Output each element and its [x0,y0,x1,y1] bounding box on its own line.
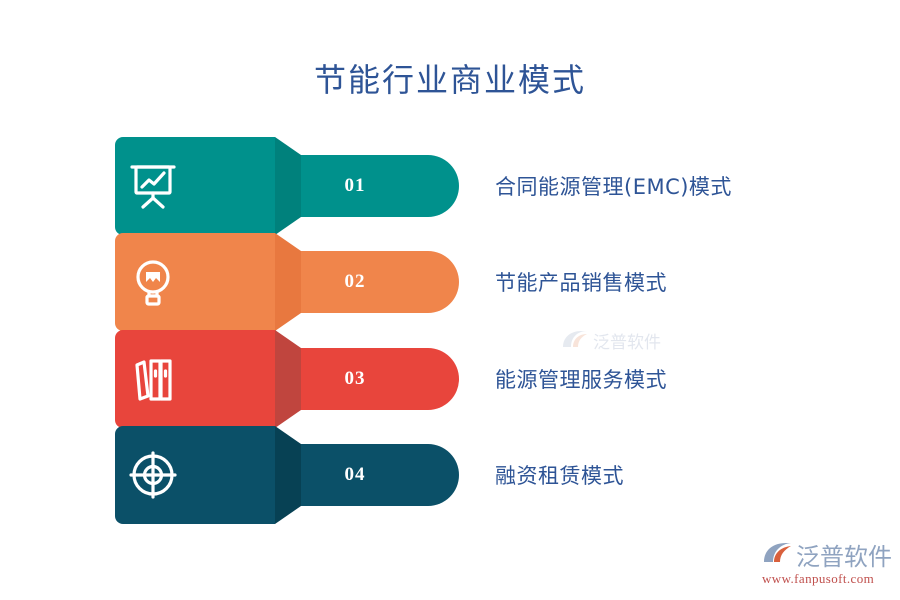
slide-canvas: 节能行业商业模式 01合同能源管理(EMC)模式02节能产品销售模式03能源管理… [0,0,900,600]
row-label: 合同能源管理(EMC)模式 [495,171,732,201]
lightbulb-icon [127,256,179,308]
brand-logo: 泛普软件 www.fanpusoft.com [762,538,894,588]
process-row[interactable]: 01合同能源管理(EMC)模式 [0,137,900,235]
process-row[interactable]: 02节能产品销售模式 [0,233,900,331]
brand-url: www.fanpusoft.com [762,571,894,587]
fanpu-logo-icon [762,540,792,568]
row-label: 节能产品销售模式 [495,267,667,297]
presentation-chart-icon [127,160,179,212]
row-label: 能源管理服务模式 [495,364,667,394]
target-crosshair-icon [127,449,179,501]
process-list: 01合同能源管理(EMC)模式02节能产品销售模式03能源管理服务模式04融资租… [0,0,900,600]
row-label: 融资租赁模式 [495,460,624,490]
process-row[interactable]: 03能源管理服务模式 [0,330,900,428]
books-icon [127,353,179,405]
process-row[interactable]: 04融资租赁模式 [0,426,900,524]
brand-name: 泛普软件 [796,537,892,572]
brand-logo-top: 泛普软件 [762,538,894,570]
